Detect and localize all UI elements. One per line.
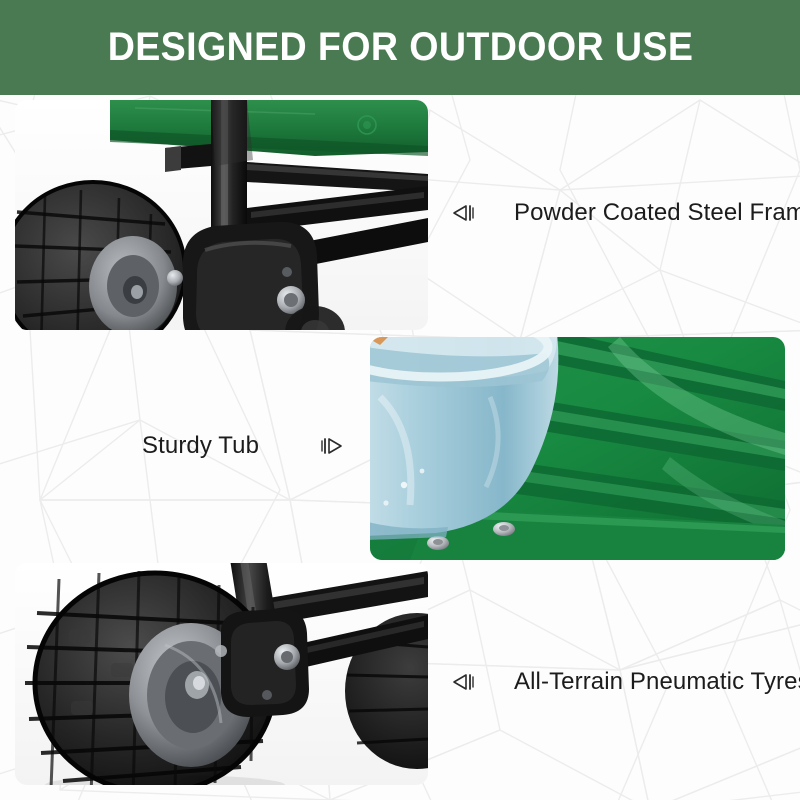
photo-panel-all-terrain-pneumatic-tyres — [15, 563, 428, 785]
feature-label-all-terrain-pneumatic-tyres: All-Terrain Pneumatic Tyres — [452, 668, 800, 696]
chevron-left-bar-icon — [452, 203, 476, 223]
photo-panel-sturdy-tub — [370, 337, 785, 560]
steel-frame-photo — [15, 100, 428, 330]
sturdy-tub-photo — [370, 337, 785, 560]
chevron-right-bar-icon — [319, 436, 343, 456]
product-feature-infographic: DESIGNED FOR OUTDOOR USE — [0, 0, 800, 800]
page-title: DESIGNED FOR OUTDOOR USE — [107, 25, 693, 70]
header-banner: DESIGNED FOR OUTDOOR USE — [0, 0, 800, 95]
feature-label-text: Sturdy Tub — [142, 432, 259, 460]
pneumatic-tyres-photo — [15, 563, 428, 785]
feature-label-text: All-Terrain Pneumatic Tyres — [514, 668, 800, 696]
photo-panel-powder-coated-steel-frame — [15, 100, 428, 330]
feature-label-sturdy-tub: Sturdy Tub — [142, 432, 343, 460]
feature-label-text: Powder Coated Steel Frame — [514, 199, 800, 227]
chevron-left-bar-icon — [452, 672, 476, 692]
feature-label-powder-coated-steel-frame: Powder Coated Steel Frame — [452, 199, 800, 227]
